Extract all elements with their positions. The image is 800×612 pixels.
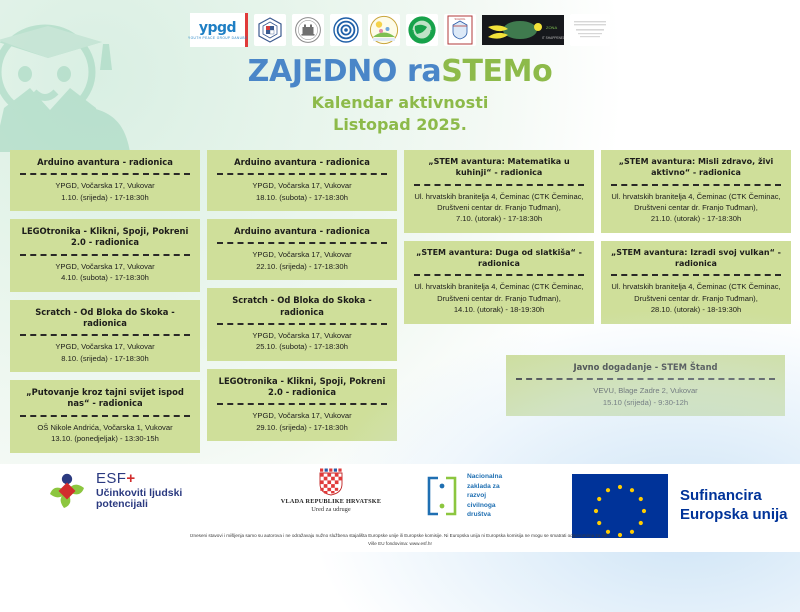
activity-title: Arduino avantura - radionica (215, 226, 389, 237)
partner-logo-strip: ypgd YOUTH PEACE GROUP DANUBE (0, 8, 800, 52)
grey-circular-seal-logo (292, 14, 324, 46)
eu-line-1: Sufinancira (680, 487, 788, 506)
column-2: Arduino avantura - radionica YPGD, Vočar… (207, 150, 397, 441)
activity-location-line-1: Ul. hrvatskih branitelja 4, Čeminac (CTK… (609, 281, 783, 292)
eu-text-block: Sufinancira Europska unija (680, 487, 788, 525)
bracket-icon (424, 475, 460, 517)
ypgd-logo-subtitle: YOUTH PEACE GROUP DANUBE (188, 36, 247, 40)
activity-title: LEGOtronika - Klikni, Spoji, Pokreni 2.0… (18, 226, 192, 249)
poster-subtitle: Kalendar aktivnosti Listopad 2025. (0, 92, 800, 135)
blue-spiral-logo (330, 14, 362, 46)
activity-datetime: 8.10. (srijeda) - 17-18:30h (18, 353, 192, 364)
dashed-divider (217, 173, 387, 175)
activity-title: „STEM avantura: Duga od slatkiša“ - radi… (412, 248, 586, 270)
activity-datetime: 1.10. (srijeda) - 17-18:30h (18, 192, 192, 203)
dashed-divider (611, 274, 781, 276)
foundation-text-block: Nacionalna zaklada za razvoj civilnoga d… (467, 472, 502, 520)
column-3: „STEM avantura: Matematika u kuhinji“ - … (404, 150, 594, 324)
activity-location-line-2: Društveni centar dr. Franjo Tuđman), (609, 202, 783, 213)
public-event-location: VEVU, Blage Zadre 2, Vukovar (514, 385, 777, 396)
national-foundation-logo: Nacionalna zaklada za razvoj civilnoga d… (424, 472, 502, 520)
activity-location: YPGD, Vočarska 17, Vukovar (215, 249, 389, 260)
activity-card[interactable]: Scratch - Od Bloka do Skoka - radionica … (207, 288, 397, 360)
disclaimer-line-2: Više EU fondovima: www.esf.hr (0, 540, 800, 548)
activity-title: Scratch - Od Bloka do Skoka - radionica (18, 307, 192, 330)
activity-card[interactable]: LEGOtronika - Klikni, Spoji, Pokreni 2.0… (207, 369, 397, 441)
activity-location-line-1: Ul. hrvatskih branitelja 4, Čeminac (CTK… (609, 191, 783, 202)
dashed-divider (20, 415, 190, 417)
activity-title: „STEM avantura: Izradi svoj vulkan“ - ra… (609, 248, 783, 270)
disclaimer-line-1: Izneseni stavovi i mišljenja samo su aut… (0, 532, 800, 540)
activity-location: YPGD, Vočarska 17, Vukovar (18, 261, 192, 272)
foundation-line-4: civilnoga (467, 501, 502, 511)
activity-datetime: 25.10. (subota) - 17-18:30h (215, 341, 389, 352)
svg-text:ZONA: ZONA (546, 25, 557, 30)
activity-location-line-1: Ul. hrvatskih branitelja 4, Čeminac (CTK… (412, 281, 586, 292)
activity-datetime: 28.10. (utorak) - 18-19:30h (609, 304, 783, 315)
activity-card[interactable]: „Putovanje kroz tajni svijet ispod nas“ … (10, 380, 200, 452)
activity-title: „Putovanje kroz tajni svijet ispod nas“ … (18, 387, 192, 410)
activity-datetime: 21.10. (utorak) - 17-18:30h (609, 213, 783, 224)
dashed-divider (414, 274, 584, 276)
croatian-government-logo: VLADA REPUBLIKE HRVATSKE Ured za udruge (256, 468, 406, 513)
dashed-divider (217, 323, 387, 325)
eu-cofunded-logo: Sufinancira Europska unija (572, 474, 788, 538)
title-part-zajedno-ra: ZAJEDNO ra (248, 54, 442, 89)
activity-location-line-2: Društveni centar dr. Franjo Tuđman), (412, 293, 586, 304)
dark-turtle-banner-logo: ZONA IT SHAPPENED (482, 15, 564, 45)
title-block: ZAJEDNO raSTEMo Kalendar aktivnosti List… (0, 56, 800, 136)
dashed-divider (611, 184, 781, 186)
eu-disclaimer: Izneseni stavovi i mišljenja samo su aut… (0, 532, 800, 548)
dashed-divider (217, 242, 387, 244)
school-crest-logo: SCHOOL (444, 14, 476, 46)
activity-datetime: 13.10. (ponedjeljak) - 13:30-15h (18, 433, 192, 444)
foundation-line-1: Nacionalna (467, 472, 502, 482)
esf-plus-logo: ESF+ Učinkoviti ljudski potencijali (46, 470, 182, 512)
activity-location: YPGD, Vočarska 17, Vukovar (215, 330, 389, 341)
hexagon-institution-logo (254, 14, 286, 46)
activity-title: „STEM avantura: Misli zdravo, živi aktiv… (609, 157, 783, 179)
activity-card[interactable]: Arduino avantura - radionica YPGD, Vočar… (207, 219, 397, 280)
activity-location-line-1: Ul. hrvatskih branitelja 4, Čeminac (CTK… (412, 191, 586, 202)
subtitle-line-2: Listopad 2025. (0, 114, 800, 136)
esf-pinwheel-icon (46, 470, 88, 512)
foundation-line-2: zaklada za (467, 482, 502, 492)
eu-line-2: Europska unija (680, 506, 788, 525)
svg-text:SCHOOL: SCHOOL (455, 17, 467, 21)
esf-name: ESF+ (96, 471, 182, 488)
activity-datetime: 22.10. (srijeda) - 17-18:30h (215, 261, 389, 272)
children-sun-emblem-logo (368, 14, 400, 46)
svg-text:IT SHAPPENED: IT SHAPPENED (542, 36, 564, 40)
activity-location-line-2: Društveni centar dr. Franjo Tuđman), (609, 293, 783, 304)
activity-location: YPGD, Vočarska 17, Vukovar (215, 410, 389, 421)
activity-card[interactable]: „STEM avantura: Duga od slatkiša“ - radi… (404, 241, 594, 324)
foundation-line-3: razvoj (467, 491, 502, 501)
activity-title: Arduino avantura - radionica (18, 157, 192, 168)
activity-card[interactable]: „STEM avantura: Misli zdravo, živi aktiv… (601, 150, 791, 233)
faint-white-text-logo (570, 14, 610, 46)
public-event-block: Javno dogadanje - STEM Štand VEVU, Blage… (506, 355, 785, 416)
activity-card[interactable]: „STEM avantura: Izradi svoj vulkan“ - ra… (601, 241, 791, 324)
activity-card[interactable]: „STEM avantura: Matematika u kuhinji“ - … (404, 150, 594, 233)
esf-plus-sign: + (126, 470, 135, 487)
activity-location-line-2: Društveni centar dr. Franjo Tuđman), (412, 202, 586, 213)
foundation-line-5: društva (467, 510, 502, 520)
title-part-o: o (532, 54, 552, 89)
activity-title: LEGOtronika - Klikni, Spoji, Pokreni 2.0… (215, 376, 389, 399)
activity-datetime: 4.10. (subota) - 17-18:30h (18, 272, 192, 283)
dashed-divider (516, 378, 775, 380)
dashed-divider (20, 334, 190, 336)
activity-card[interactable]: Scratch - Od Bloka do Skoka - radionica … (10, 300, 200, 372)
activity-location: YPGD, Vočarska 17, Vukovar (18, 180, 192, 191)
dashed-divider (217, 403, 387, 405)
activity-card[interactable]: LEGOtronika - Klikni, Spoji, Pokreni 2.0… (10, 219, 200, 291)
public-event-card[interactable]: Javno dogadanje - STEM Štand VEVU, Blage… (506, 355, 785, 416)
esf-tagline-line-2: potencijali (96, 499, 182, 511)
government-name: VLADA REPUBLIKE HRVATSKE (256, 498, 406, 505)
subtitle-line-1: Kalendar aktivnosti (0, 92, 800, 114)
public-event-datetime: 15.10 (srijeda) - 9:30-12h (514, 397, 777, 408)
ypgd-logo-mark: ypgd (199, 21, 236, 35)
activity-title: „STEM avantura: Matematika u kuhinji“ - … (412, 157, 586, 179)
dashed-divider (414, 184, 584, 186)
activity-location: YPGD, Vočarska 17, Vukovar (18, 341, 192, 352)
footer: ESF+ Učinkoviti ljudski potencijali (0, 464, 800, 552)
dashed-divider (20, 254, 190, 256)
activity-datetime: 7.10. (utorak) - 17-18:30h (412, 213, 586, 224)
activity-title: Scratch - Od Bloka do Skoka - radionica (215, 295, 389, 318)
green-globe-emblem-logo (406, 14, 438, 46)
esf-text-block: ESF+ Učinkoviti ljudski potencijali (96, 471, 182, 511)
activity-location: YPGD, Vočarska 17, Vukovar (215, 180, 389, 191)
activity-datetime: 29.10. (srijeda) - 17-18:30h (215, 422, 389, 433)
activity-title: Arduino avantura - radionica (215, 157, 389, 168)
croatian-coat-of-arms-icon (316, 468, 346, 496)
column-4: „STEM avantura: Misli zdravo, živi aktiv… (601, 150, 791, 324)
esf-acronym: ESF (96, 470, 126, 487)
activity-datetime: 18.10. (subota) - 17-18:30h (215, 192, 389, 203)
government-office: Ured za udruge (256, 506, 406, 513)
column-1: Arduino avantura - radionica YPGD, Vočar… (10, 150, 200, 453)
dashed-divider (20, 173, 190, 175)
activity-datetime: 14.10. (utorak) - 18-19:30h (412, 304, 586, 315)
ypgd-logo: ypgd YOUTH PEACE GROUP DANUBE (190, 13, 248, 47)
poster-main-title: ZAJEDNO raSTEMo (0, 56, 800, 88)
eu-flag-icon (572, 474, 668, 538)
activity-card[interactable]: Arduino avantura - radionica YPGD, Vočar… (207, 150, 397, 211)
title-part-stem: STEM (441, 54, 532, 89)
public-event-title: Javno dogadanje - STEM Štand (514, 362, 777, 373)
activity-location: OŠ Nikole Andrića, Vočarska 1, Vukovar (18, 422, 192, 433)
activity-card[interactable]: Arduino avantura - radionica YPGD, Vočar… (10, 150, 200, 211)
